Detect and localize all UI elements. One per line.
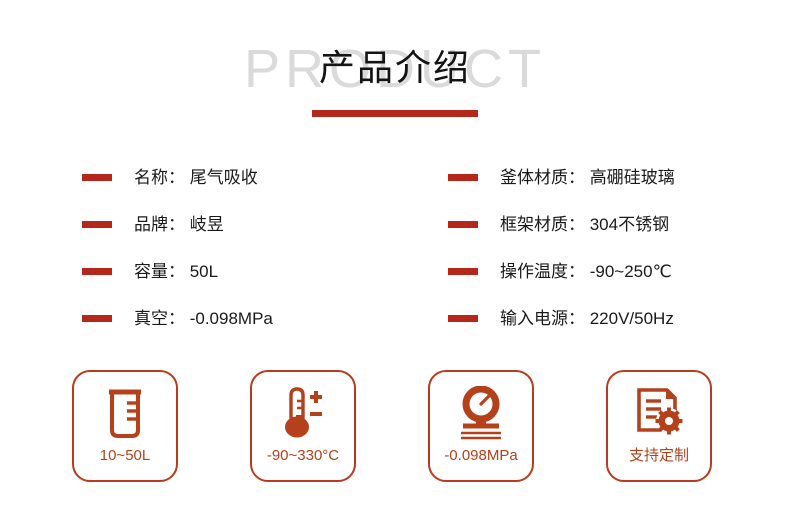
specification-list: 名称： 尾气吸收 品牌： 岐昱 容量： 50L 真空： -0.098MPa 釜体… xyxy=(0,154,790,342)
page-title-block: PRODUCT 产品介绍 xyxy=(0,22,790,132)
badge-temperature: -90~330°C xyxy=(250,370,356,482)
badge-vacuum: -0.098MPa xyxy=(428,370,534,482)
feature-badge-row: 10~50L -90~330°C xyxy=(72,370,712,482)
spec-column-right: 釜体材质： 高硼硅玻璃 框架材质： 304不锈钢 操作温度： -90~250℃ … xyxy=(0,154,448,342)
pressure-gauge-icon xyxy=(455,384,507,442)
badge-label: -90~330°C xyxy=(267,448,339,463)
dash-bullet-icon xyxy=(448,268,478,275)
badge-capacity: 10~50L xyxy=(72,370,178,482)
badge-customization: 支持定制 xyxy=(606,370,712,482)
dash-bullet-icon xyxy=(448,315,478,322)
dash-bullet-icon xyxy=(448,221,478,228)
badge-label: 支持定制 xyxy=(629,448,689,463)
thermometer-icon xyxy=(278,384,328,442)
spec-text: 框架材质： 304不锈钢 xyxy=(500,216,669,233)
page-title: 产品介绍 xyxy=(0,46,790,89)
beaker-icon xyxy=(102,384,148,442)
spec-text: 输入电源： 220V/50Hz xyxy=(500,310,674,327)
badge-label: -0.098MPa xyxy=(444,448,517,463)
spec-text: 釜体材质： 高硼硅玻璃 xyxy=(500,169,675,186)
title-underline-rule xyxy=(312,110,478,117)
dash-bullet-icon xyxy=(448,174,478,181)
spec-text: 操作温度： -90~250℃ xyxy=(500,263,672,280)
document-gear-icon xyxy=(633,384,685,442)
badge-label: 10~50L xyxy=(100,448,150,463)
